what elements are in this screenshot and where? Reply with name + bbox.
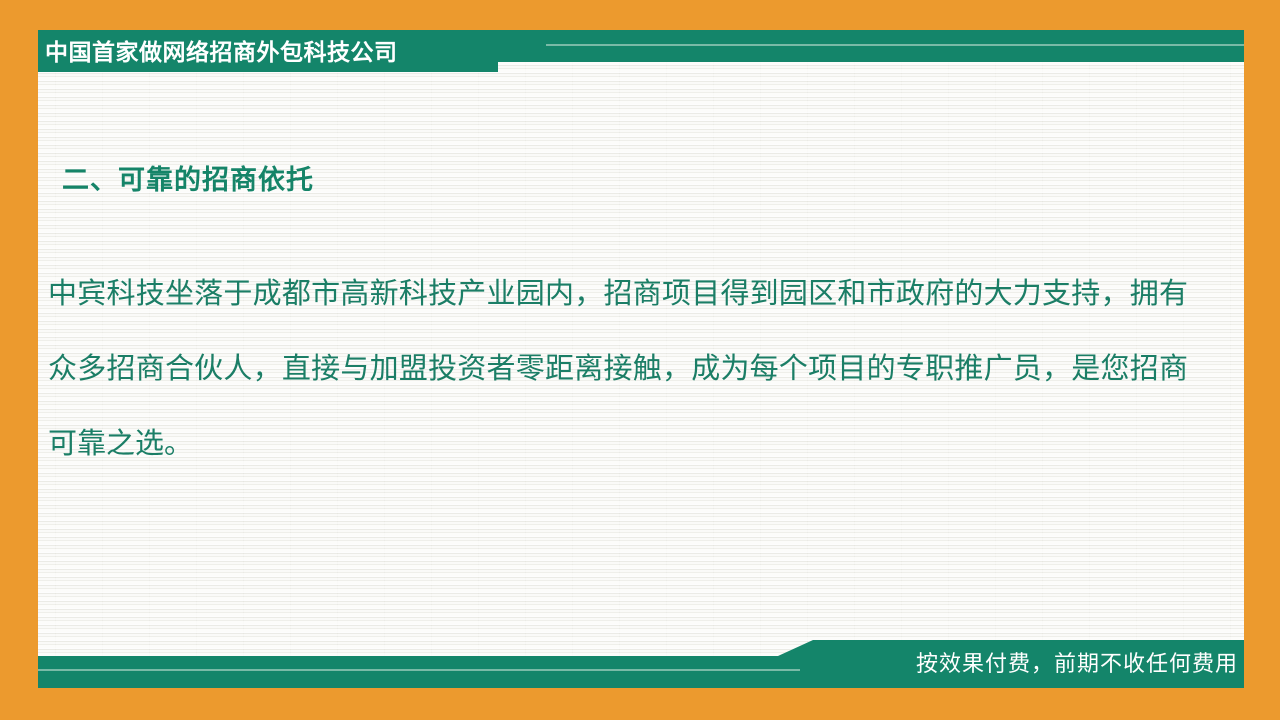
footer-tagline: 按效果付费，前期不收任何费用 <box>916 648 1238 680</box>
header-title: 中国首家做网络招商外包科技公司 <box>45 33 398 71</box>
slide-canvas: 中国首家做网络招商外包科技公司 二、可靠的招商依托 中宾科技坐落于成都市高新科技… <box>0 0 1280 720</box>
frame-top-bar <box>0 0 1280 30</box>
frame-bottom-bar <box>0 688 1280 720</box>
body-paragraph: 中宾科技坐落于成都市高新科技产业园内，招商项目得到园区和市政府的大力支持，拥有众… <box>48 257 1188 482</box>
frame-left-bar <box>0 0 38 720</box>
frame-right-bar <box>1244 0 1280 720</box>
section-heading: 二、可靠的招商依托 <box>62 158 314 197</box>
